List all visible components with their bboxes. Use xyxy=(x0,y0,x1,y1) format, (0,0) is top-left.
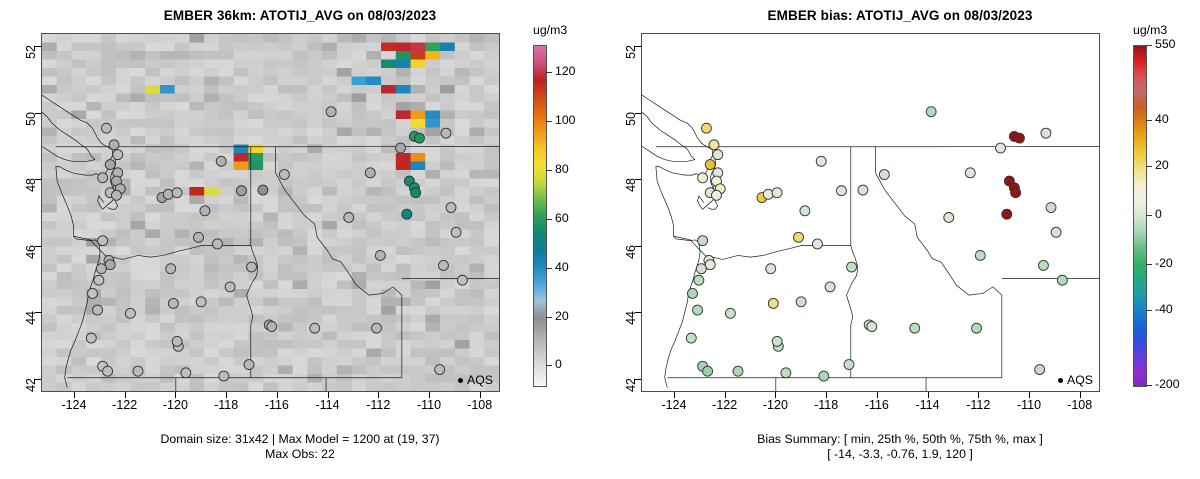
map-plot-model[interactable]: AQS xyxy=(41,33,500,392)
colorbar-tick-label: -40 xyxy=(1155,302,1173,316)
monitor-point[interactable] xyxy=(98,236,108,246)
monitor-point[interactable] xyxy=(247,262,257,272)
monitor-point[interactable] xyxy=(372,323,382,333)
monitor-point[interactable] xyxy=(402,209,412,219)
monitor-point[interactable] xyxy=(98,173,108,183)
monitor-point[interactable] xyxy=(93,305,103,315)
monitor-point[interactable] xyxy=(365,168,375,178)
colorbar-tick xyxy=(546,170,552,171)
monitor-point[interactable] xyxy=(910,323,920,333)
colorbar-tick xyxy=(1146,310,1152,311)
colorbar-tick-label: 550 xyxy=(1155,37,1176,51)
monitor-points-bias[interactable] xyxy=(642,34,1099,391)
colorbar-tick xyxy=(546,317,552,318)
x-tick-label: -122 xyxy=(103,398,147,412)
monitor-point[interactable] xyxy=(96,264,106,274)
monitor-point[interactable] xyxy=(944,213,954,223)
aqs-dot-icon xyxy=(458,378,463,383)
monitor-point[interactable] xyxy=(244,360,254,370)
monitor-point[interactable] xyxy=(113,150,123,160)
y-tick-label: 48 xyxy=(24,178,38,208)
x-tick-label: -114 xyxy=(906,398,950,412)
monitor-point[interactable] xyxy=(781,368,791,378)
monitor-point[interactable] xyxy=(344,213,354,223)
monitor-point[interactable] xyxy=(965,168,975,178)
monitor-point[interactable] xyxy=(111,190,121,200)
y-tick-label: 50 xyxy=(624,112,638,142)
x-tick-label: -112 xyxy=(356,398,400,412)
monitor-point[interactable] xyxy=(375,250,385,260)
x-tick-label: -108 xyxy=(458,398,502,412)
caption-bias-summary-values: [ -14, -3.3, -0.76, 1.9, 120 ] xyxy=(600,447,1200,462)
monitor-point[interactable] xyxy=(1002,209,1012,219)
caption-max-obs: Max Obs: 22 xyxy=(0,447,600,462)
monitor-point[interactable] xyxy=(733,366,743,376)
monitor-point[interactable] xyxy=(844,360,854,370)
monitor-point[interactable] xyxy=(94,275,104,285)
monitor-point[interactable] xyxy=(847,262,857,272)
monitor-point[interactable] xyxy=(703,366,713,376)
colorbar-tick-label: -20 xyxy=(1155,256,1173,270)
x-tick-label: -112 xyxy=(956,398,1000,412)
colorbar-tick-label: 80 xyxy=(555,162,569,176)
monitor-point[interactable] xyxy=(1038,260,1048,270)
monitor-point[interactable] xyxy=(451,227,461,237)
monitor-point[interactable] xyxy=(236,186,246,196)
x-tick-label: -120 xyxy=(153,398,197,412)
monitor-point[interactable] xyxy=(858,185,868,195)
colorbar-tick-label: -200 xyxy=(1155,377,1180,391)
colorbar-tick xyxy=(546,219,552,220)
monitor-point[interactable] xyxy=(1051,227,1061,237)
monitor-point[interactable] xyxy=(698,236,708,246)
monitor-point[interactable] xyxy=(86,333,96,343)
panel-title-bias: EMBER bias: ATOTIJ_AVG on 08/03/2023 xyxy=(600,8,1200,23)
colorbar-tick xyxy=(1146,166,1152,167)
x-tick-label: -114 xyxy=(306,398,350,412)
aqs-legend-model: AQS xyxy=(458,373,493,387)
colorbar-gradient-bias xyxy=(1133,45,1147,387)
monitor-point[interactable] xyxy=(88,288,98,298)
y-tick-label: 44 xyxy=(24,311,38,341)
monitor-point[interactable] xyxy=(926,107,936,117)
monitor-point[interactable] xyxy=(694,275,704,285)
monitor-point[interactable] xyxy=(768,298,778,308)
colorbar-tick-label: 20 xyxy=(1155,158,1169,172)
colorbar-tick-label: 20 xyxy=(555,309,569,323)
monitor-point[interactable] xyxy=(310,323,320,333)
colorbar-tick xyxy=(1146,264,1152,265)
colorbar-tick xyxy=(546,268,552,269)
y-tick-label: 46 xyxy=(24,245,38,275)
monitor-point[interactable] xyxy=(709,140,719,150)
monitor-point[interactable] xyxy=(800,206,810,216)
x-tick-label: -110 xyxy=(407,398,451,412)
monitor-point[interactable] xyxy=(693,305,703,315)
aqs-dot-icon xyxy=(1058,378,1063,383)
monitor-point[interactable] xyxy=(972,323,982,333)
monitor-point[interactable] xyxy=(109,140,119,150)
x-tick-label: -118 xyxy=(204,398,248,412)
x-tick-label: -116 xyxy=(855,398,899,412)
monitor-point[interactable] xyxy=(168,298,178,308)
monitor-point[interactable] xyxy=(103,366,113,376)
monitor-point[interactable] xyxy=(219,371,229,381)
colorbar-tick xyxy=(546,121,552,122)
y-tick-label: 52 xyxy=(624,45,638,75)
monitor-point[interactable] xyxy=(819,371,829,381)
colorbar-tick xyxy=(1146,45,1152,46)
colorbar-tick-label: 100 xyxy=(555,113,576,127)
x-tick-label: -108 xyxy=(1058,398,1102,412)
aqs-legend-label: AQS xyxy=(1067,373,1093,387)
monitor-point[interactable] xyxy=(686,333,696,343)
monitor-point[interactable] xyxy=(396,143,406,153)
monitor-point[interactable] xyxy=(816,156,826,166)
colorbar-tick xyxy=(546,72,552,73)
monitor-point[interactable] xyxy=(326,107,336,117)
monitor-point[interactable] xyxy=(279,170,289,180)
panel-model: EMBER 36km: ATOTIJ_AVG on 08/03/2023 AQS… xyxy=(0,0,600,479)
y-tick-label: 48 xyxy=(624,178,638,208)
monitor-point[interactable] xyxy=(1035,365,1045,375)
y-tick-label: 50 xyxy=(24,112,38,142)
monitor-point[interactable] xyxy=(441,128,451,138)
monitor-point[interactable] xyxy=(1057,275,1067,285)
monitor-point[interactable] xyxy=(825,282,835,292)
colorbar-tick-label: 0 xyxy=(1155,207,1162,221)
colorbar-gradient-model xyxy=(533,45,547,387)
x-tick-label: -120 xyxy=(753,398,797,412)
monitor-point[interactable] xyxy=(225,282,235,292)
colorbar-units-bias: ug/m3 xyxy=(1133,23,1167,37)
monitor-point[interactable] xyxy=(163,189,173,199)
monitor-point[interactable] xyxy=(194,232,204,242)
monitor-point[interactable] xyxy=(101,123,111,133)
x-tick-label: -110 xyxy=(1007,398,1051,412)
monitor-point[interactable] xyxy=(725,308,735,318)
y-tick-label: 46 xyxy=(624,245,638,275)
monitor-point[interactable] xyxy=(216,156,226,166)
colorbar-tick-label: 120 xyxy=(555,64,576,78)
monitor-point[interactable] xyxy=(1041,128,1051,138)
monitor-point[interactable] xyxy=(867,322,877,332)
monitor-point[interactable] xyxy=(879,170,889,180)
monitor-point[interactable] xyxy=(1046,203,1056,213)
monitor-point[interactable] xyxy=(435,365,445,375)
monitor-point[interactable] xyxy=(763,189,773,199)
monitor-point[interactable] xyxy=(125,308,135,318)
monitor-point[interactable] xyxy=(794,232,804,242)
monitor-point[interactable] xyxy=(196,297,206,307)
colorbar-tick-label: 0 xyxy=(555,357,562,371)
x-tick-label: -124 xyxy=(652,398,696,412)
monitor-point[interactable] xyxy=(1011,188,1021,198)
colorbar-tick xyxy=(1146,215,1152,216)
x-tick-label: -124 xyxy=(52,398,96,412)
colorbar-tick xyxy=(1146,120,1152,121)
monitor-point[interactable] xyxy=(705,160,715,170)
monitor-point[interactable] xyxy=(696,264,706,274)
monitor-point[interactable] xyxy=(772,336,782,346)
y-tick-label: 52 xyxy=(24,45,38,75)
monitor-point[interactable] xyxy=(766,264,776,274)
aqs-legend-bias: AQS xyxy=(1058,373,1093,387)
monitor-point[interactable] xyxy=(698,173,708,183)
monitor-point[interactable] xyxy=(1014,133,1024,143)
monitor-point[interactable] xyxy=(836,186,846,196)
y-tick-label: 44 xyxy=(624,311,638,341)
monitor-point[interactable] xyxy=(133,366,143,376)
monitor-point[interactable] xyxy=(772,188,782,198)
monitor-point[interactable] xyxy=(996,143,1006,153)
monitor-point[interactable] xyxy=(267,322,277,332)
monitor-point[interactable] xyxy=(713,150,723,160)
panel-bias: EMBER bias: ATOTIJ_AVG on 08/03/2023 AQS… xyxy=(600,0,1200,479)
monitor-point[interactable] xyxy=(457,275,467,285)
map-plot-bias[interactable]: AQS xyxy=(641,33,1100,392)
monitor-point[interactable] xyxy=(181,368,191,378)
monitor-point[interactable] xyxy=(711,190,721,200)
monitor-points-model[interactable] xyxy=(42,34,499,391)
monitor-point[interactable] xyxy=(438,260,448,270)
x-tick-label: -118 xyxy=(804,398,848,412)
colorbar-tick-label: 60 xyxy=(555,211,569,225)
monitor-point[interactable] xyxy=(166,264,176,274)
caption-bias-summary-header: Bias Summary: [ min, 25th %, 50th %, 75t… xyxy=(600,432,1200,447)
aqs-legend-label: AQS xyxy=(467,373,493,387)
colorbar-units-model: ug/m3 xyxy=(533,23,567,37)
monitor-point[interactable] xyxy=(258,185,268,195)
panel-title-model: EMBER 36km: ATOTIJ_AVG on 08/03/2023 xyxy=(0,8,600,23)
colorbar-tick-label: 40 xyxy=(555,260,569,274)
monitor-point[interactable] xyxy=(701,123,711,133)
y-tick-label: 42 xyxy=(24,378,38,408)
monitor-point[interactable] xyxy=(212,239,222,249)
caption-domain-size: Domain size: 31x42 | Max Model = 1200 at… xyxy=(0,432,600,447)
monitor-point[interactable] xyxy=(975,250,985,260)
monitor-point[interactable] xyxy=(446,203,456,213)
colorbar-tick xyxy=(1146,385,1152,386)
monitor-point[interactable] xyxy=(688,288,698,298)
monitor-point[interactable] xyxy=(200,206,210,216)
colorbar-tick-label: 40 xyxy=(1155,112,1169,126)
monitor-point[interactable] xyxy=(414,133,424,143)
monitor-point[interactable] xyxy=(172,188,182,198)
monitor-point[interactable] xyxy=(796,297,806,307)
colorbar-tick xyxy=(546,365,552,366)
monitor-point[interactable] xyxy=(105,160,115,170)
monitor-point[interactable] xyxy=(812,239,822,249)
monitor-point[interactable] xyxy=(172,336,182,346)
monitor-point[interactable] xyxy=(411,188,421,198)
x-tick-label: -116 xyxy=(255,398,299,412)
x-tick-label: -122 xyxy=(703,398,747,412)
y-tick-label: 42 xyxy=(624,378,638,408)
